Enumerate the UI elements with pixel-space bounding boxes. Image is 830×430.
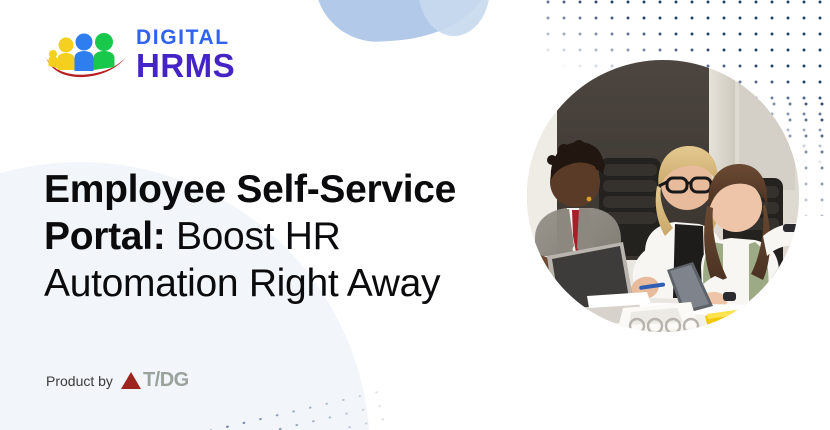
logo-word-digital: DIGITAL xyxy=(136,27,235,48)
people-group-icon xyxy=(42,26,128,82)
triangle-icon xyxy=(121,372,141,389)
hero-photo xyxy=(527,60,799,332)
marketing-banner: DIGITAL HRMS Employee Self-Service Porta… xyxy=(0,0,830,430)
tdg-wordmark: T/DG xyxy=(143,369,189,392)
logo-wordmark: DIGITAL HRMS xyxy=(136,27,235,82)
office-team-photo-illustration xyxy=(527,60,799,332)
digital-hrms-logo[interactable]: DIGITAL HRMS xyxy=(42,26,235,82)
tdg-logo[interactable]: T/DG xyxy=(121,369,189,392)
product-by-label: Product by xyxy=(46,373,113,389)
logo-word-hrms: HRMS xyxy=(136,49,235,82)
product-by-attribution: Product by T/DG xyxy=(46,369,189,392)
page-title: Employee Self-Service Portal: Boost HR A… xyxy=(44,166,514,307)
